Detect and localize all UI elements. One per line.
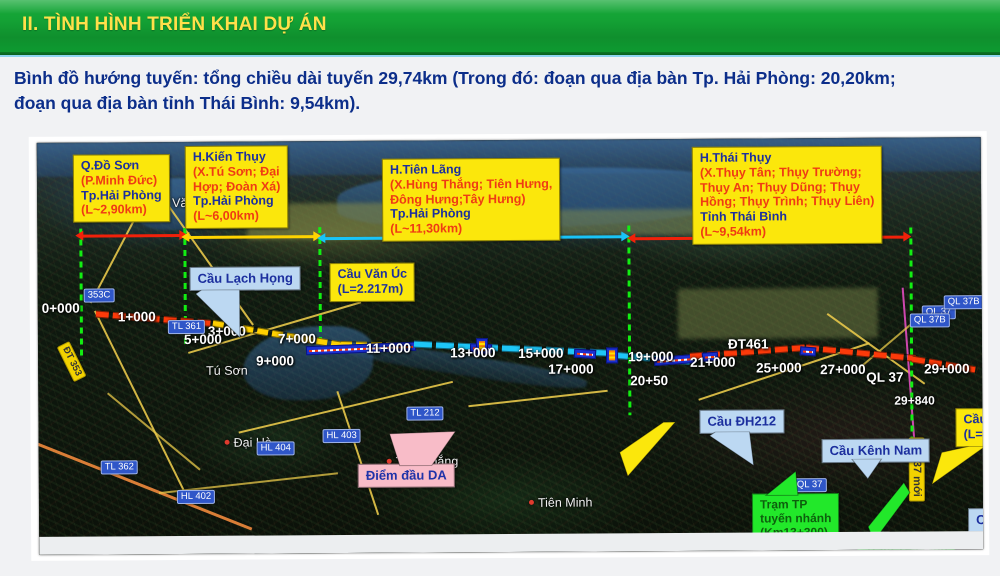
callout-cau-van-uc-tail <box>617 422 677 478</box>
callout-kien-thuy-line-1: (X.Tú Sơn; Đại <box>193 164 280 179</box>
callout-cau-chua-xu-tail <box>978 484 983 512</box>
route-label-dt461: ĐT461 <box>728 336 769 351</box>
road-shield-tl362: TL 362 <box>101 460 138 474</box>
road-shield-hl402: HL 402 <box>177 490 215 504</box>
km-label-10: 19+000 <box>628 349 674 364</box>
km-label-13: 25+000 <box>756 360 802 375</box>
intro-paragraph: Bình đồ hướng tuyến: tổng chiều dài tuyế… <box>14 66 992 117</box>
callout-do-son[interactable]: Q.Đồ Sơn (P.Minh Đức) Tp.Hải Phòng (L~2,… <box>73 154 170 223</box>
callout-cau-van-uc[interactable]: Cầu Văn Úc (L=2.217m) Cầu ĐH212 Cầu Kênh… <box>329 263 415 302</box>
callout-thai-thuy[interactable]: H.Thái Thụy (X.Thụy Tân; Thụy Trường; Th… <box>692 146 883 245</box>
bridge-thuy-an-structure <box>800 346 817 356</box>
callout-kien-thuy-line-4: (L~6,00km) <box>193 208 280 223</box>
callout-thai-thuy-line-0: H.Thái Thụy <box>700 150 874 166</box>
km-label-5: 9+000 <box>256 353 294 368</box>
callout-thai-thuy-line-5: (L~9,54km) <box>700 224 874 240</box>
callout-cau-thai-binh-tail <box>928 446 984 486</box>
callout-cau-thai-binh-line-1: (L=1.116m) <box>964 426 984 441</box>
callout-thai-thuy-line-4: Tỉnh Thái Bình <box>700 209 874 225</box>
km-label-8: 15+000 <box>518 346 564 361</box>
intro-paragraph-line1: Bình đồ hướng tuyến: tổng chiều dài tuyế… <box>14 66 992 91</box>
place-label-tu-son: Tú Sơn <box>206 364 248 378</box>
callout-cau-lach-hong-tail <box>196 289 276 341</box>
callout-tien-lang-line-0: H.Tiên Lãng <box>390 162 552 178</box>
callout-kien-thuy-line-3: Tp.Hải Phòng <box>193 194 280 209</box>
callout-tram-nhanh-tail <box>762 471 802 497</box>
header-rule-accent <box>0 55 1000 57</box>
callout-thai-thuy-line-2: Thụy An; Thụy Dũng; Thụy <box>700 179 874 195</box>
toll-plaza-main <box>606 347 618 363</box>
km-label-7: 13+000 <box>450 345 496 360</box>
callout-diem-dau-tail <box>390 431 490 468</box>
km-label-14: 27+000 <box>820 362 866 377</box>
callout-cau-dh212-line-0: Cầu ĐH212 <box>707 413 776 429</box>
field-patch-c <box>678 288 878 339</box>
road-shield-ql37b-a: QL 37B <box>944 295 984 309</box>
road-shield-hl404: HL 404 <box>257 441 295 455</box>
bridge-kenh-nam-structure <box>574 349 597 359</box>
km-label-15: 29+000 <box>924 361 970 376</box>
road-shield-tl212: TL 212 <box>406 406 443 420</box>
km-label-6: 11+000 <box>366 341 411 356</box>
callout-diem-dau-line-0: Điểm đầu DA <box>366 467 447 483</box>
km-label-9: 17+000 <box>548 361 594 376</box>
callout-tien-lang-line-4: (L~11,30km) <box>390 221 552 237</box>
callout-cau-thai-binh-line-0: Cầu Thái Bình <box>963 412 983 427</box>
segment-arrow-kien-thuy-head-left <box>181 232 189 242</box>
callout-cau-van-uc-line-0: Cầu Văn Úc <box>338 267 408 282</box>
segment-arrow-thai-thuy-head-right <box>903 232 911 242</box>
map-satellite-image[interactable]: 0+000 1+000 3+000 5+000 7+000 9+000 11+0… <box>37 137 983 555</box>
km-label-1: 1+000 <box>118 309 156 324</box>
km-label-11: 20+50 <box>630 373 668 388</box>
callout-tien-lang[interactable]: H.Tiên Lãng (X.Hùng Thắng; Tiên Hưng, Đô… <box>382 158 561 242</box>
callout-kien-thuy-line-0: H.Kiến Thụy <box>193 149 280 164</box>
callout-cau-thai-binh[interactable]: Cầu Thái Bình (L=1.116m) <box>955 408 983 447</box>
callout-cau-lach-hong-line-0: Cầu Lạch Họng <box>198 270 293 286</box>
segment-arrow-do-son-head-left <box>75 231 83 241</box>
segment-arrow-tien-lang-head-left <box>317 233 325 243</box>
callout-tien-lang-line-3: Tp.Hải Phòng <box>390 206 552 222</box>
road-shield-353c: 353C <box>84 288 115 302</box>
callout-tram-nhanh-line-1: tuyến nhánh <box>760 511 831 526</box>
km-label-12: 21+000 <box>690 355 736 370</box>
road-shield-hl403: HL 403 <box>323 429 361 443</box>
callout-cau-kenh-nam-line-0: Cầu Kênh Nam <box>830 442 923 458</box>
km-label-0: 0+000 <box>42 301 80 316</box>
intro-paragraph-line2: đoạn qua địa bàn tỉnh Thái Bình: 9,54km)… <box>14 91 992 116</box>
callout-do-son-line-3: (L~2,90km) <box>81 202 162 217</box>
road-shield-ql37b-b: QL 37B <box>910 313 950 327</box>
page-title: II. TÌNH HÌNH TRIỂN KHAI DỰ ÁN <box>22 14 327 36</box>
place-label-tien-minh: Tiên Minh <box>529 495 593 509</box>
km-label-16: 29+840 <box>894 393 934 407</box>
callout-tien-lang-line-2: Đông Hưng;Tây Hưng) <box>390 191 552 207</box>
place-dot-icon <box>225 440 230 445</box>
place-dot-icon <box>529 500 534 505</box>
callout-kien-thuy[interactable]: H.Kiến Thụy (X.Tú Sơn; Đại Hợp; Đoàn Xá)… <box>185 145 289 228</box>
route-label-ql37: QL 37 <box>866 370 903 385</box>
segment-arrow-do-son <box>81 234 181 238</box>
header-sheen <box>0 0 1000 14</box>
callout-tram-nhanh-line-0: Trạm TP <box>760 497 831 512</box>
callout-tien-lang-line-1: (X.Hùng Thắng; Tiên Hưng, <box>390 176 552 192</box>
callout-do-son-line-0: Q.Đồ Sơn <box>81 158 162 173</box>
km-label-4: 7+000 <box>278 331 316 346</box>
callout-do-son-line-1: (P.Minh Đức) <box>81 173 162 188</box>
callout-cau-lach-hong[interactable]: Cầu Lạch Họng <box>190 266 301 291</box>
callout-thai-thuy-line-1: (X.Thụy Tân; Thụy Trường; <box>700 165 874 181</box>
callout-cau-dh212-tail <box>710 431 780 469</box>
callout-cau-van-uc-line-1: (L=2.217m) <box>338 281 408 296</box>
callout-cau-kenh-nam-tail <box>848 459 898 481</box>
slide-root: II. TÌNH HÌNH TRIỂN KHAI DỰ ÁN Bình đồ h… <box>0 0 1000 576</box>
callout-kien-thuy-line-2: Hợp; Đoàn Xá) <box>193 179 280 194</box>
callout-thai-thuy-line-3: Hồng; Thụy Trình; Thụy Liên) <box>700 194 874 210</box>
segment-arrow-thai-thuy-head-left <box>627 233 635 243</box>
callout-do-son-line-2: Tp.Hải Phòng <box>81 188 162 203</box>
callout-cau-chua-xu-line-0: Cầu Chùa Xú <box>976 512 983 528</box>
